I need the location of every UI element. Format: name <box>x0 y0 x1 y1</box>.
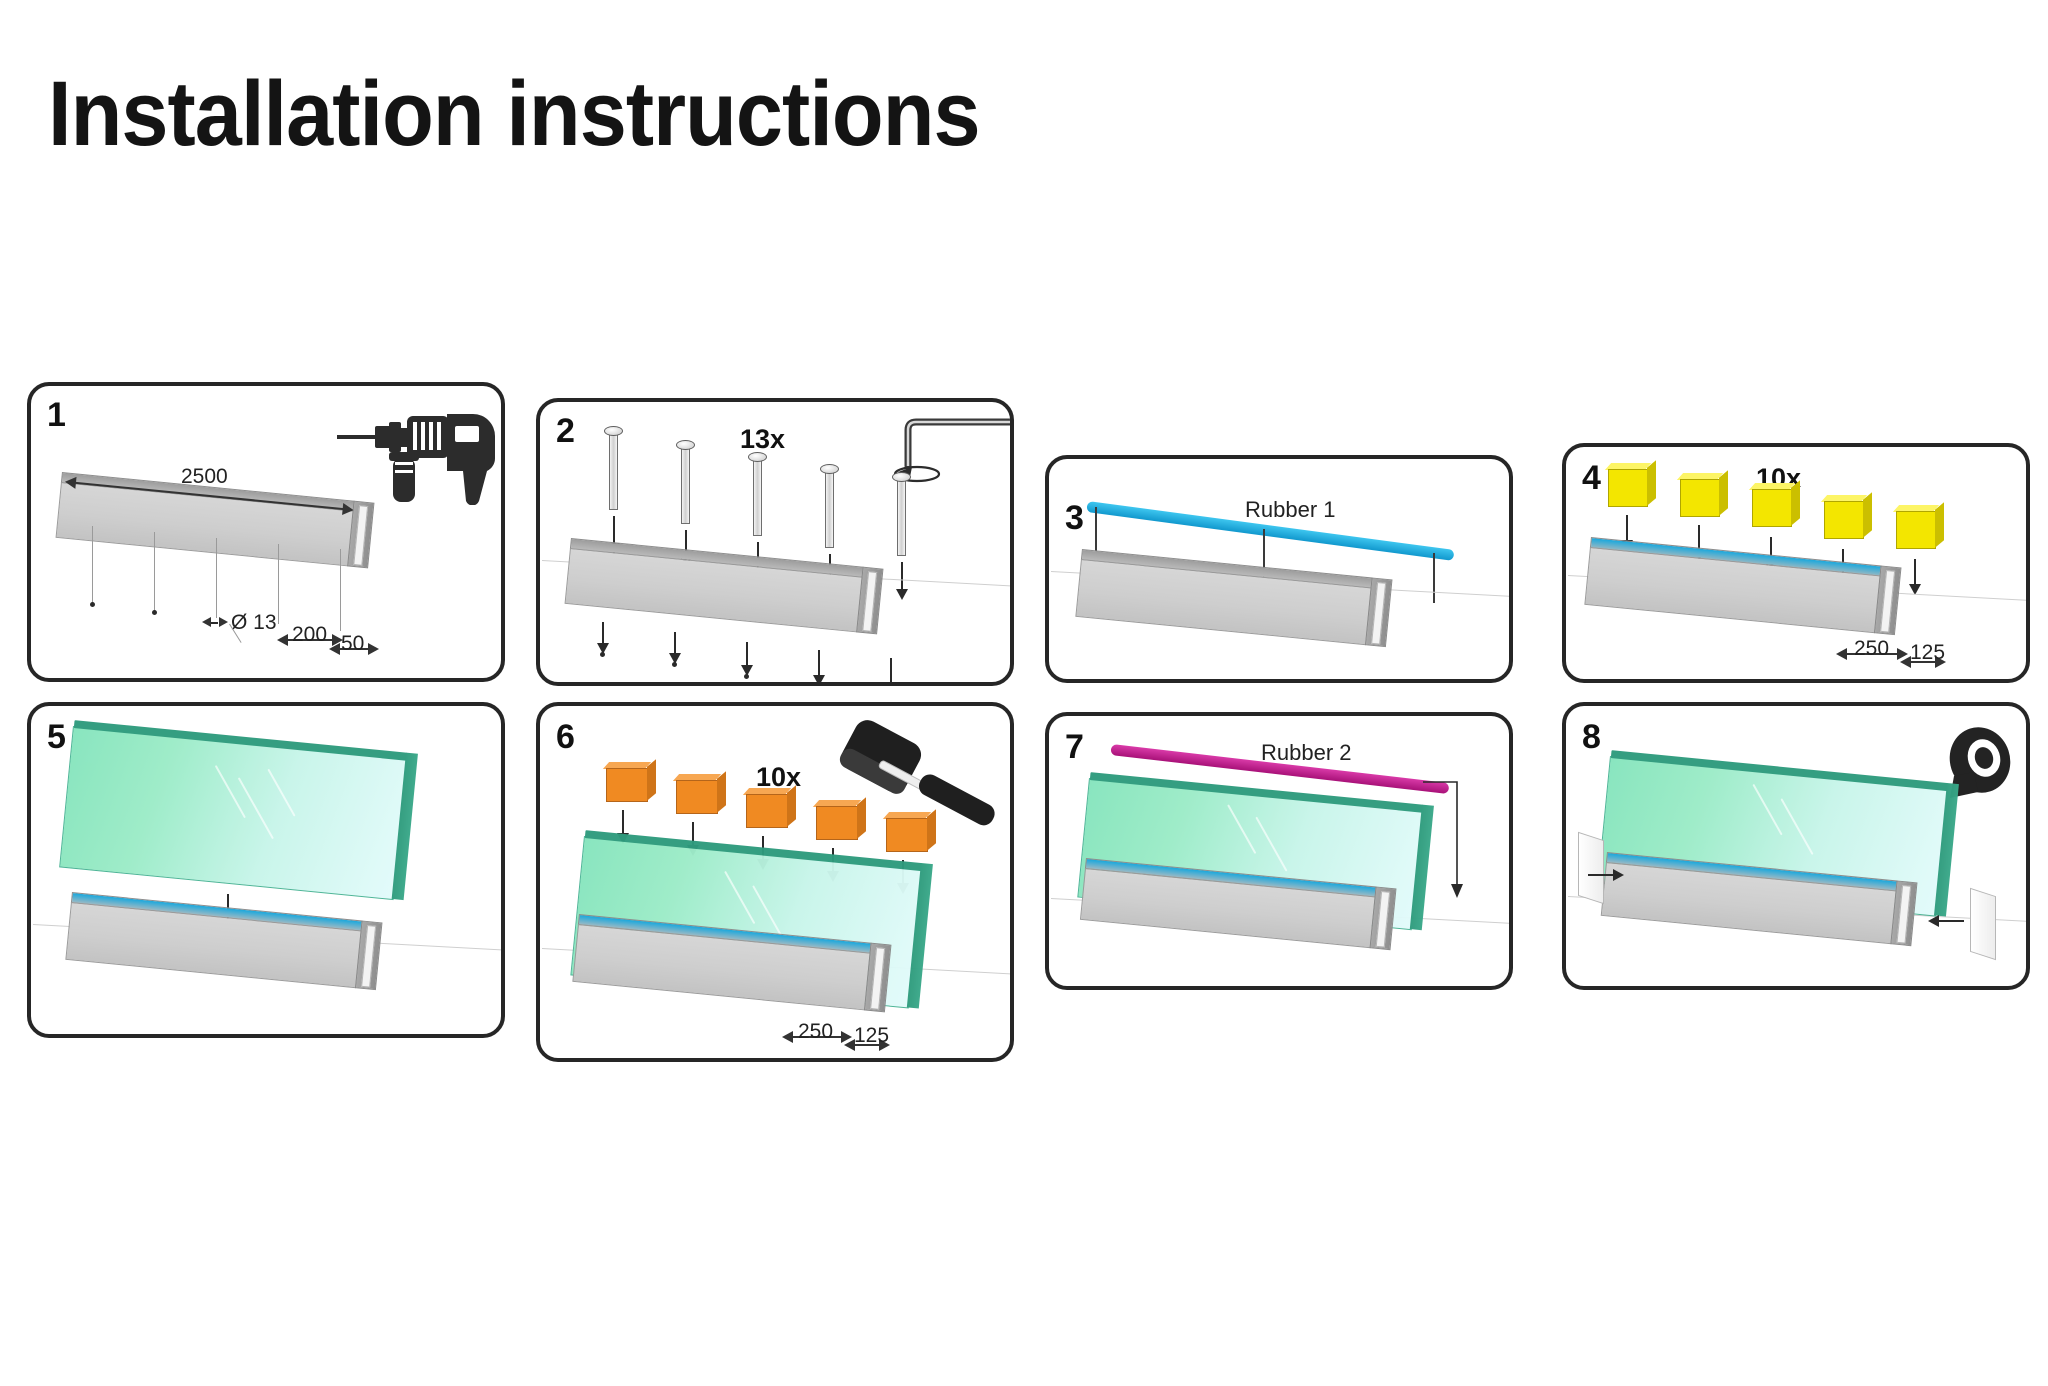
glass-sheen-1 <box>215 765 246 818</box>
wedge-face <box>606 768 648 802</box>
hole-extension-3 <box>216 538 217 618</box>
dimension-spacing-label: 250 <box>798 1020 833 1044</box>
hole-extension-1 <box>92 526 93 604</box>
dimension-edge-label: 125 <box>854 1024 889 1048</box>
base-rail <box>65 902 361 988</box>
glass-sheen-2 <box>1255 817 1287 872</box>
step-panel-2: 2 13x <box>536 398 1014 686</box>
wedge-side <box>787 785 796 827</box>
glass-side-edge <box>907 863 933 1008</box>
glass-sheen-1 <box>724 871 755 924</box>
step-number-1: 1 <box>47 398 66 432</box>
hammer-drill-icon <box>329 400 505 505</box>
glass-sheen-1 <box>1227 804 1256 854</box>
anchor-point-1 <box>600 652 605 657</box>
dimension-length-label: 2500 <box>181 465 228 489</box>
hole-extension-5 <box>340 549 341 631</box>
dimension-spacing-label: 250 <box>1854 637 1889 661</box>
screw-head <box>604 426 623 436</box>
dimension-edge-label: 50 <box>341 632 364 656</box>
base-rail <box>1584 547 1880 633</box>
diameter-label: Ø 13 <box>231 611 277 635</box>
wedge-face <box>676 780 718 814</box>
end-cap-right <box>1970 888 1996 960</box>
glass-panel <box>59 726 407 900</box>
insert-arrow-5 <box>901 562 903 590</box>
glass-top-edge <box>1611 750 1948 791</box>
glass-top-edge <box>585 830 922 871</box>
anchor-arrow-5 <box>890 658 892 684</box>
drill-mark-1 <box>90 602 95 607</box>
wedge-side <box>927 809 936 851</box>
page-title: Installation instructions <box>48 68 980 160</box>
shim-arrow-5 <box>1914 559 1916 585</box>
anchor-arrow-2 <box>674 632 676 654</box>
screw-icon-4 <box>825 472 834 548</box>
shim-side <box>1647 460 1656 506</box>
step-number-4: 4 <box>1582 461 1601 495</box>
wedge-block-2 <box>676 780 718 814</box>
shim-side <box>1791 480 1800 526</box>
screw-icon-3 <box>753 460 762 536</box>
shim-block-1 <box>1608 469 1648 507</box>
step-number-2: 2 <box>556 414 575 448</box>
wedge-side <box>717 771 726 813</box>
glass-sheen-3 <box>267 769 295 817</box>
anchor-arrow-1 <box>602 622 604 644</box>
dimension-edge-label: 125 <box>1910 641 1945 665</box>
step-panel-1: 1 2500 <box>27 382 505 682</box>
base-rail <box>565 548 863 632</box>
diameter-arrow-left <box>202 617 211 627</box>
allen-key-icon <box>888 408 1014 518</box>
end-cap-right-arrow <box>1938 920 1964 922</box>
base-rail <box>1075 559 1371 645</box>
shim-face <box>1824 501 1864 539</box>
shim-face <box>1752 489 1792 527</box>
step-panel-8: 8 <box>1562 702 2030 990</box>
step-number-8: 8 <box>1582 720 1601 754</box>
step-number-5: 5 <box>47 720 66 754</box>
step-panel-6: 6 10x <box>536 702 1014 1062</box>
rubber-1-label: Rubber 1 <box>1245 497 1336 523</box>
glass-top-edge <box>74 720 407 761</box>
end-cap-left-arrow <box>1588 874 1614 876</box>
wedge-block-3 <box>746 794 788 828</box>
screw-icon-2 <box>681 448 690 524</box>
end-cap-left <box>1578 832 1604 904</box>
step-panel-4: 4 10x 250 125 <box>1562 443 2030 683</box>
anchor-arrow-4 <box>818 650 820 676</box>
shim-block-3 <box>1752 489 1792 527</box>
shim-side <box>1719 470 1728 516</box>
shim-arrow-1 <box>1626 515 1628 541</box>
screw-head <box>892 472 911 482</box>
shim-face <box>1608 469 1648 507</box>
anchor-arrow-3 <box>746 642 748 666</box>
drill-mark-2 <box>152 610 157 615</box>
insert-arrow-1 <box>613 516 615 544</box>
screw-head <box>676 440 695 450</box>
diameter-arrow-right <box>219 617 228 627</box>
glass-sheen-2 <box>1780 798 1813 855</box>
wedge-face <box>816 806 858 840</box>
step-number-3: 3 <box>1065 501 1084 535</box>
shim-block-4 <box>1824 501 1864 539</box>
shim-face <box>1680 479 1720 517</box>
rubber-2-label: Rubber 2 <box>1261 740 1352 766</box>
rubber-1-leader-right <box>1433 553 1435 603</box>
hole-extension-2 <box>154 532 155 612</box>
wedge-side <box>647 759 656 801</box>
shim-side <box>1863 492 1872 538</box>
shim-side <box>1935 502 1944 548</box>
step-panel-5: 5 <box>27 702 505 1038</box>
glass-sheen-2 <box>238 777 274 839</box>
glass-side-edge <box>392 753 418 900</box>
screw-icon-5 <box>897 480 906 556</box>
wedge-face <box>746 794 788 828</box>
glass-sheen-1 <box>1752 784 1782 836</box>
wedge-block-4 <box>816 806 858 840</box>
wedge-arrow-1 <box>622 810 624 834</box>
wedge-block-1 <box>606 768 648 802</box>
shim-block-5 <box>1896 511 1936 549</box>
step-panel-3: 3 Rubber 1 <box>1045 455 1513 683</box>
step-number-7: 7 <box>1065 730 1084 764</box>
hole-extension-4 <box>278 544 279 624</box>
rubber-2-insert-arrow <box>1415 778 1475 908</box>
step-panel-7: 7 Rubber 2 <box>1045 712 1513 990</box>
anchor-point-2 <box>672 662 677 667</box>
dimension-spacing-label: 200 <box>292 623 327 647</box>
wedge-face <box>886 818 928 852</box>
screw-head <box>820 464 839 474</box>
shim-face <box>1896 511 1936 549</box>
rubber-1-leader-left <box>1095 507 1097 551</box>
wedge-block-5 <box>886 818 928 852</box>
anchor-point-3 <box>744 674 749 679</box>
glass-side-edge <box>1934 783 1959 917</box>
shim-block-2 <box>1680 479 1720 517</box>
step-number-6: 6 <box>556 720 575 754</box>
screw-head <box>748 452 767 462</box>
screw-quantity-label: 13x <box>740 424 785 455</box>
screw-icon-1 <box>609 434 618 510</box>
